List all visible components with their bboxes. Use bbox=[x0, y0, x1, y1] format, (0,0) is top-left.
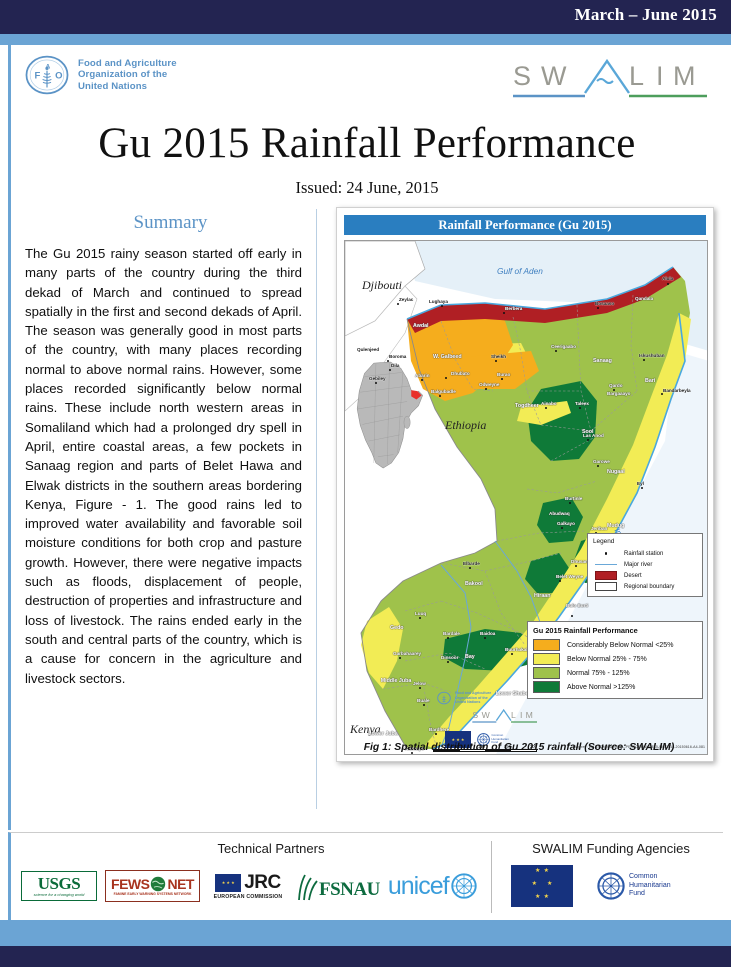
fao-name: Food and Agriculture Organization of the… bbox=[78, 58, 177, 93]
chf-line2: Humanitarian bbox=[629, 882, 671, 891]
place-label: Bosaaso bbox=[595, 301, 614, 306]
rainfall-station-dot bbox=[421, 379, 423, 381]
desert-swatch-icon bbox=[593, 571, 619, 580]
region-label: Sanaag bbox=[593, 358, 612, 364]
rainfall-station-dot bbox=[375, 382, 377, 384]
region-label: W. Galbeed bbox=[433, 354, 462, 360]
region-label: Togdheer bbox=[515, 403, 539, 409]
rainfall-station-dot bbox=[575, 565, 577, 567]
svg-text:I: I bbox=[520, 710, 522, 720]
rainfall-station-dot bbox=[447, 637, 449, 639]
performance-legend-label: Below Normal 25% - 75% bbox=[567, 656, 647, 663]
ocean-label-gulf-of-aden: Gulf of Aden bbox=[497, 266, 543, 276]
region-label: Mudug bbox=[607, 523, 624, 529]
fao-name-line2: Organization of the bbox=[78, 69, 177, 81]
performance-legend-item: Normal 75% - 125% bbox=[533, 666, 697, 680]
rainfall-station-dot bbox=[597, 465, 599, 467]
rainfall-station-dot bbox=[501, 378, 503, 380]
footer-divider bbox=[491, 841, 492, 913]
body-area: Summary The Gu 2015 rainy season started… bbox=[8, 205, 723, 830]
rainfall-station-dot bbox=[503, 312, 505, 314]
rainfall-station-dot bbox=[559, 580, 561, 582]
place-label: Jeriban bbox=[591, 526, 607, 531]
rainfall-station-dot bbox=[439, 395, 441, 397]
european-union-flag[interactable]: ★ ★★ ★★ ★ bbox=[511, 865, 573, 907]
rainfall-station-dot bbox=[587, 439, 589, 441]
summary-heading: Summary bbox=[25, 212, 316, 234]
place-label: Elbarde bbox=[463, 561, 480, 566]
svg-text:L: L bbox=[629, 61, 645, 91]
rainfall-station-dot bbox=[555, 350, 557, 352]
legend-item-desert: Desert bbox=[593, 570, 697, 581]
rainfall-station-dot bbox=[447, 661, 449, 663]
net-text: NET bbox=[167, 876, 194, 892]
swatch-considerably-below-normal bbox=[533, 639, 560, 651]
map-swalim-logo: S W L I M bbox=[437, 708, 572, 729]
place-label: Boroma bbox=[389, 354, 406, 359]
usgs-tagline: science for a changing world bbox=[34, 892, 85, 897]
swalim-logo: S W L I M bbox=[511, 55, 711, 103]
chf-line1: Common bbox=[629, 873, 671, 882]
map-fao-line3: United Nations bbox=[455, 700, 491, 704]
map-fao-logo: Food and Agriculture Organization of the… bbox=[437, 691, 572, 705]
fao-name-line1: Food and Agriculture bbox=[78, 58, 177, 70]
legend-item-major-river: Major river bbox=[593, 559, 697, 570]
jrc-wordmark-row: ★ ★ ★ JRC bbox=[215, 872, 281, 894]
footer-blue-bar bbox=[0, 920, 731, 946]
place-label: Berbera bbox=[505, 306, 522, 311]
place-label: Taleex bbox=[575, 401, 589, 406]
river-line-icon bbox=[593, 564, 619, 565]
place-label: Bargaaayo bbox=[607, 391, 631, 396]
region-label: Gedo bbox=[390, 625, 404, 631]
fao-seal-icon: F A O bbox=[25, 53, 69, 97]
place-label: Garbahaarey bbox=[393, 651, 421, 656]
svg-text:W: W bbox=[541, 61, 567, 91]
map-legend: Legend Rainfall station Major river bbox=[587, 533, 703, 597]
header-blue-bar bbox=[0, 34, 731, 45]
rainfall-station-dot bbox=[397, 303, 399, 305]
fews-net-logo[interactable]: FEWS NET FAMINE EARLY WARNING SYSTEMS NE… bbox=[105, 870, 200, 902]
swatch-below-normal bbox=[533, 653, 560, 665]
place-label: Bandarbeyla bbox=[663, 388, 691, 393]
legend-item-label: Rainfall station bbox=[624, 551, 663, 557]
jrc-logo[interactable]: ★ ★ ★ JRC EUROPEAN COMMISSION bbox=[208, 869, 288, 903]
fsnau-logo[interactable]: FSNAU bbox=[296, 871, 380, 901]
rainfall-station-dot bbox=[484, 637, 486, 639]
legend-item-label: Regional boundary bbox=[624, 584, 674, 590]
summary-text: The Gu 2015 rainy season started off ear… bbox=[25, 244, 316, 688]
rainfall-station-dot bbox=[387, 360, 389, 362]
legend-item-regional-boundary: Regional boundary bbox=[593, 581, 697, 592]
rainfall-station-dot bbox=[667, 283, 669, 285]
map-figure-panel: Rainfall Performance (Gu 2015) bbox=[336, 207, 714, 762]
header-navy-bar: March – June 2015 bbox=[0, 0, 731, 34]
place-label: Burao bbox=[497, 372, 510, 377]
place-label: Garowe bbox=[593, 459, 610, 464]
region-label: Lower Juba bbox=[367, 731, 399, 737]
globe-icon bbox=[150, 876, 166, 892]
place-label: Abudwaq bbox=[549, 511, 570, 516]
place-label: Las Anod bbox=[583, 433, 604, 438]
usgs-logo[interactable]: USGS science for a changing world bbox=[21, 871, 97, 901]
rainfall-station-dot bbox=[661, 393, 663, 395]
rainfall-station-dot bbox=[469, 567, 471, 569]
place-label: Iskushuban bbox=[639, 353, 665, 358]
rainfall-station-dot bbox=[399, 657, 401, 659]
svg-text:S: S bbox=[513, 61, 532, 91]
performance-legend-label: Above Normal >125% bbox=[567, 684, 635, 691]
svg-text:M: M bbox=[673, 61, 697, 91]
fao-seal-icon bbox=[437, 691, 451, 705]
title-block: Gu 2015 Rainfall Performance Issued: 24 … bbox=[8, 113, 723, 205]
boundary-swatch-icon bbox=[593, 582, 619, 591]
performance-legend-label: Considerably Below Normal <25% bbox=[567, 642, 673, 649]
place-label: Qulenjeed bbox=[357, 347, 379, 352]
region-label: Hiraan bbox=[534, 593, 551, 599]
legend-item-label: Desert bbox=[624, 573, 642, 579]
place-label: Jelow bbox=[413, 681, 426, 686]
report-page: March – June 2015 F A O Food and Agricul… bbox=[0, 0, 731, 967]
place-label: Abarin bbox=[415, 373, 430, 378]
place-label: Burtinle bbox=[565, 496, 582, 501]
performance-legend-item: Considerably Below Normal <25% bbox=[533, 638, 697, 652]
svg-text:F: F bbox=[35, 71, 41, 82]
fao-logo: F A O Food and Agriculture Organization … bbox=[25, 53, 177, 97]
technical-partners-title: Technical Partners bbox=[71, 841, 471, 856]
place-label: Gebiley bbox=[369, 376, 386, 381]
rainfall-station-dot bbox=[641, 487, 643, 489]
place-label: Buale bbox=[417, 698, 430, 703]
place-label: Dila bbox=[391, 363, 399, 368]
svg-text:O: O bbox=[55, 71, 62, 82]
fews-net-wordmark: FEWS NET bbox=[111, 876, 194, 892]
figure-caption: Fig 1: Spatial distribution of Gu 2015 r… bbox=[337, 742, 701, 753]
funding-agencies-title: SWALIM Funding Agencies bbox=[496, 841, 726, 856]
rainfall-station-dot bbox=[445, 377, 447, 379]
map-credits: Food and Agriculture Organization of the… bbox=[437, 691, 572, 748]
performance-legend-label: Normal 75% - 125% bbox=[567, 670, 630, 677]
rainfall-station-dot bbox=[389, 369, 391, 371]
rainfall-performance-legend: Gu 2015 Rainfall Performance Considerabl… bbox=[527, 621, 703, 699]
place-label: Qardo bbox=[609, 383, 623, 388]
place-label: Dinsoor bbox=[441, 655, 458, 660]
unicef-wordmark: unicef bbox=[388, 872, 449, 901]
rainfall-station-dot bbox=[419, 687, 421, 689]
page-title: Gu 2015 Rainfall Performance bbox=[11, 119, 723, 168]
rainfall-station-dot bbox=[579, 407, 581, 409]
place-label: Ceerigaabo bbox=[551, 344, 576, 349]
footer: Technical Partners SWALIM Funding Agenci… bbox=[8, 832, 723, 920]
place-label: Alula bbox=[662, 276, 673, 281]
svg-text:L: L bbox=[511, 710, 516, 720]
map-fao-name: Food and Agriculture Organization of the… bbox=[455, 691, 491, 704]
fsnau-wordmark: FSNAU bbox=[319, 879, 380, 901]
rainfall-station-dot bbox=[495, 360, 497, 362]
common-humanitarian-fund-logo[interactable]: Common Humanitarian Fund bbox=[597, 872, 671, 900]
rainfall-station-dot bbox=[643, 359, 645, 361]
rainfall-station-dot bbox=[571, 615, 573, 617]
fews-text: FEWS bbox=[111, 876, 149, 892]
rainfall-station-dot bbox=[569, 502, 571, 504]
rainfall-station-dot bbox=[597, 307, 599, 309]
chf-line3: Fund bbox=[629, 890, 671, 899]
issued-date: Issued: 24 June, 2015 bbox=[11, 178, 723, 198]
place-label: Qandala bbox=[635, 296, 653, 301]
place-label: Zeylac bbox=[399, 297, 413, 302]
swatch-normal bbox=[533, 667, 560, 679]
region-label: Nugaal bbox=[607, 469, 625, 475]
map-title: Rainfall Performance (Gu 2015) bbox=[344, 215, 706, 235]
rainfall-station-dot bbox=[511, 653, 513, 655]
region-label: Middle Juba bbox=[380, 678, 412, 684]
performance-legend-item: Below Normal 25% - 75% bbox=[533, 652, 697, 666]
svg-text:W: W bbox=[481, 710, 490, 720]
rainfall-station-dot bbox=[613, 389, 615, 391]
funding-agency-logos: ★ ★★ ★★ ★ Common Humanitarian Fund bbox=[499, 863, 724, 909]
eu-flag-icon: ★ ★ ★ bbox=[215, 874, 241, 892]
chf-name: Common Humanitarian Fund bbox=[629, 873, 671, 899]
unicef-logo[interactable]: unicef bbox=[388, 872, 477, 901]
place-label: Ainabo bbox=[541, 401, 557, 406]
svg-text:S: S bbox=[472, 710, 478, 720]
usgs-wordmark: USGS bbox=[38, 876, 80, 892]
swalim-logo-small: S W L I M bbox=[471, 708, 539, 724]
technical-partner-logos: USGS science for a changing world FEWS N… bbox=[19, 863, 489, 909]
place-label: Odweyne bbox=[479, 382, 499, 387]
grass-icon bbox=[296, 871, 318, 901]
place-label: Bardale bbox=[443, 631, 460, 636]
rainfall-station-dot bbox=[423, 704, 425, 706]
report-date-range: March – June 2015 bbox=[575, 5, 717, 25]
place-label: Galkayo bbox=[557, 521, 575, 526]
region-label: Bakool bbox=[465, 581, 483, 587]
rainfall-station-dot bbox=[485, 388, 487, 390]
jrc-wordmark: JRC bbox=[244, 872, 281, 894]
svg-text:M: M bbox=[525, 710, 532, 720]
place-label: Dhubato bbox=[451, 371, 470, 376]
svg-text:I: I bbox=[656, 61, 665, 91]
fews-net-tagline: FAMINE EARLY WARNING SYSTEMS NETWORK bbox=[114, 892, 192, 896]
fao-name-line3: United Nations bbox=[78, 81, 177, 93]
un-emblem-icon bbox=[597, 872, 625, 900]
jrc-subtitle: EUROPEAN COMMISSION bbox=[214, 894, 283, 900]
logo-band: F A O Food and Agriculture Organization … bbox=[8, 45, 723, 113]
place-label: Lughaya bbox=[429, 299, 448, 304]
legend-title: Legend bbox=[593, 538, 697, 545]
rainfall-station-dot bbox=[419, 617, 421, 619]
region-label: Awdal bbox=[413, 323, 429, 329]
rainfall-station-dot bbox=[545, 407, 547, 409]
place-label: Bulo Burti bbox=[566, 603, 582, 608]
place-label: Baidoa bbox=[480, 631, 495, 636]
region-label: Bay bbox=[465, 654, 475, 660]
map-canvas[interactable]: Gulf of Aden Indian Ocean Djibouti Ethio… bbox=[344, 240, 708, 755]
legend-item-rainfall-station: Rainfall station bbox=[593, 548, 697, 559]
footer-navy-bar bbox=[0, 946, 731, 967]
legend-item-label: Major river bbox=[624, 562, 652, 568]
place-label: Eyl bbox=[637, 481, 644, 486]
performance-legend-title: Gu 2015 Rainfall Performance bbox=[533, 626, 697, 635]
place-label: Sheikh bbox=[491, 354, 506, 359]
summary-column: Summary The Gu 2015 rainy season started… bbox=[25, 209, 317, 809]
rainfall-station-icon bbox=[593, 552, 619, 554]
place-label: Balgubadle bbox=[431, 389, 456, 394]
place-label: Belet Weyne bbox=[556, 574, 583, 579]
country-label-ethiopia: Ethiopia bbox=[445, 418, 486, 433]
region-label: Bari bbox=[645, 378, 655, 384]
country-label-djibouti: Djibouti bbox=[362, 278, 402, 293]
un-emblem-icon bbox=[451, 873, 477, 899]
rainfall-station-dot bbox=[561, 527, 563, 529]
rainfall-station-dot bbox=[441, 305, 443, 307]
place-label: Luuq bbox=[415, 611, 426, 616]
